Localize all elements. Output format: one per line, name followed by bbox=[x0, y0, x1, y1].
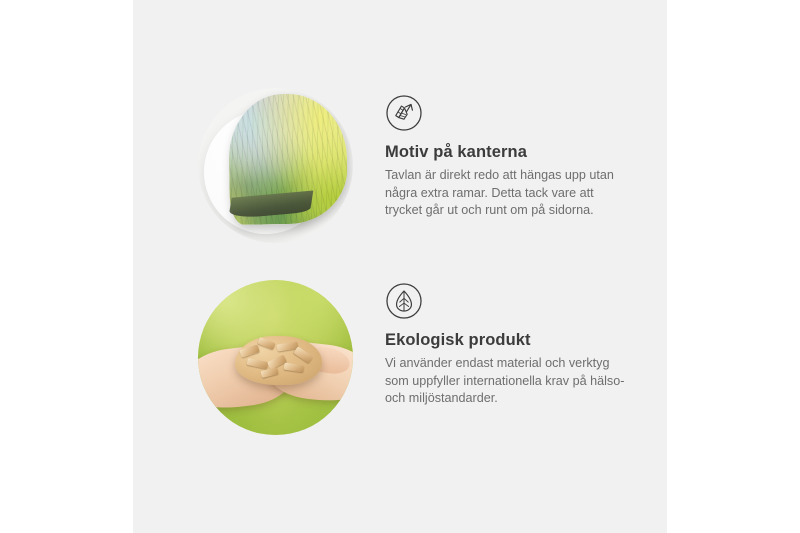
eco-material-photo-circle bbox=[198, 280, 353, 435]
canvas-edge-photo bbox=[198, 88, 353, 243]
wrapped-canvas-edge-icon bbox=[385, 94, 423, 132]
content-panel: Motiv på kanterna Tavlan är direkt redo … bbox=[133, 0, 667, 533]
canvas-edge-photo-circle bbox=[198, 88, 353, 243]
wood-chips-pile bbox=[235, 336, 322, 386]
colorful-canvas-block bbox=[228, 93, 348, 225]
feature-title: Motiv på kanterna bbox=[385, 142, 653, 163]
eco-material-photo bbox=[198, 280, 353, 435]
feature-title: Ekologisk produkt bbox=[385, 330, 653, 351]
feature-text-column-2: Ekologisk produkt Vi använder endast mat… bbox=[385, 282, 653, 408]
leaf-icon bbox=[385, 282, 423, 320]
feature-description: Vi använder endast material och verktyg … bbox=[385, 355, 629, 409]
feature-text-column-1: Motiv på kanterna Tavlan är direkt redo … bbox=[385, 94, 653, 220]
feature-description: Tavlan är direkt redo att hängas upp uta… bbox=[385, 167, 629, 221]
infographic-stage: Motiv på kanterna Tavlan är direkt redo … bbox=[0, 0, 800, 533]
